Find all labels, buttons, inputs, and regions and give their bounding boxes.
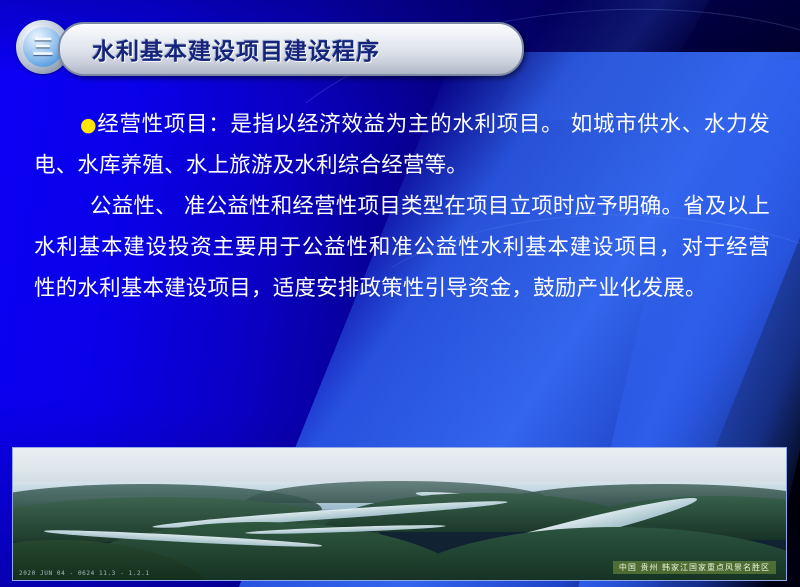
photo-caption-left: 2020 JUN 04 - 0624 11.3 - 1.2.1 xyxy=(19,570,150,577)
section-number-text: 三 xyxy=(33,37,54,58)
paragraph-1: ●经营性项目：是指以经济效益为主的水利项目。 如城市供水、水力发电、水库养殖、水… xyxy=(34,104,770,186)
paragraph-2: 公益性、 准公益性和经营性项目类型在项目立项时应予明确。省及以上水利基本建设投资… xyxy=(34,186,770,309)
slide-body: ●经营性项目：是指以经济效益为主的水利项目。 如城市供水、水力发电、水库养殖、水… xyxy=(34,104,770,309)
bullet-icon: ● xyxy=(80,114,97,136)
landscape-photo: 中国 贵州 韩家江国家重点风景名胜区 2020 JUN 04 - 0624 11… xyxy=(12,447,787,581)
section-number-badge-inner: 三 xyxy=(23,27,63,67)
paragraph-1-text: 经营性项目：是指以经济效益为主的水利项目。 如城市供水、水力发电、水库养殖、水上… xyxy=(34,112,770,178)
photo-caption-right: 中国 贵州 韩家江国家重点风景名胜区 xyxy=(613,561,776,574)
slide: 三 水利基本建设项目建设程序 ●经营性项目：是指以经济效益为主的水利项目。 如城… xyxy=(0,0,800,587)
page-title: 水利基本建设项目建设程序 xyxy=(92,32,380,66)
paragraph-2-text: 公益性、 准公益性和经营性项目类型在项目立项时应予明确。省及以上水利基本建设投资… xyxy=(34,194,770,301)
slide-header: 三 水利基本建设项目建设程序 xyxy=(0,0,800,92)
title-pill: 水利基本建设项目建设程序 xyxy=(58,22,524,76)
